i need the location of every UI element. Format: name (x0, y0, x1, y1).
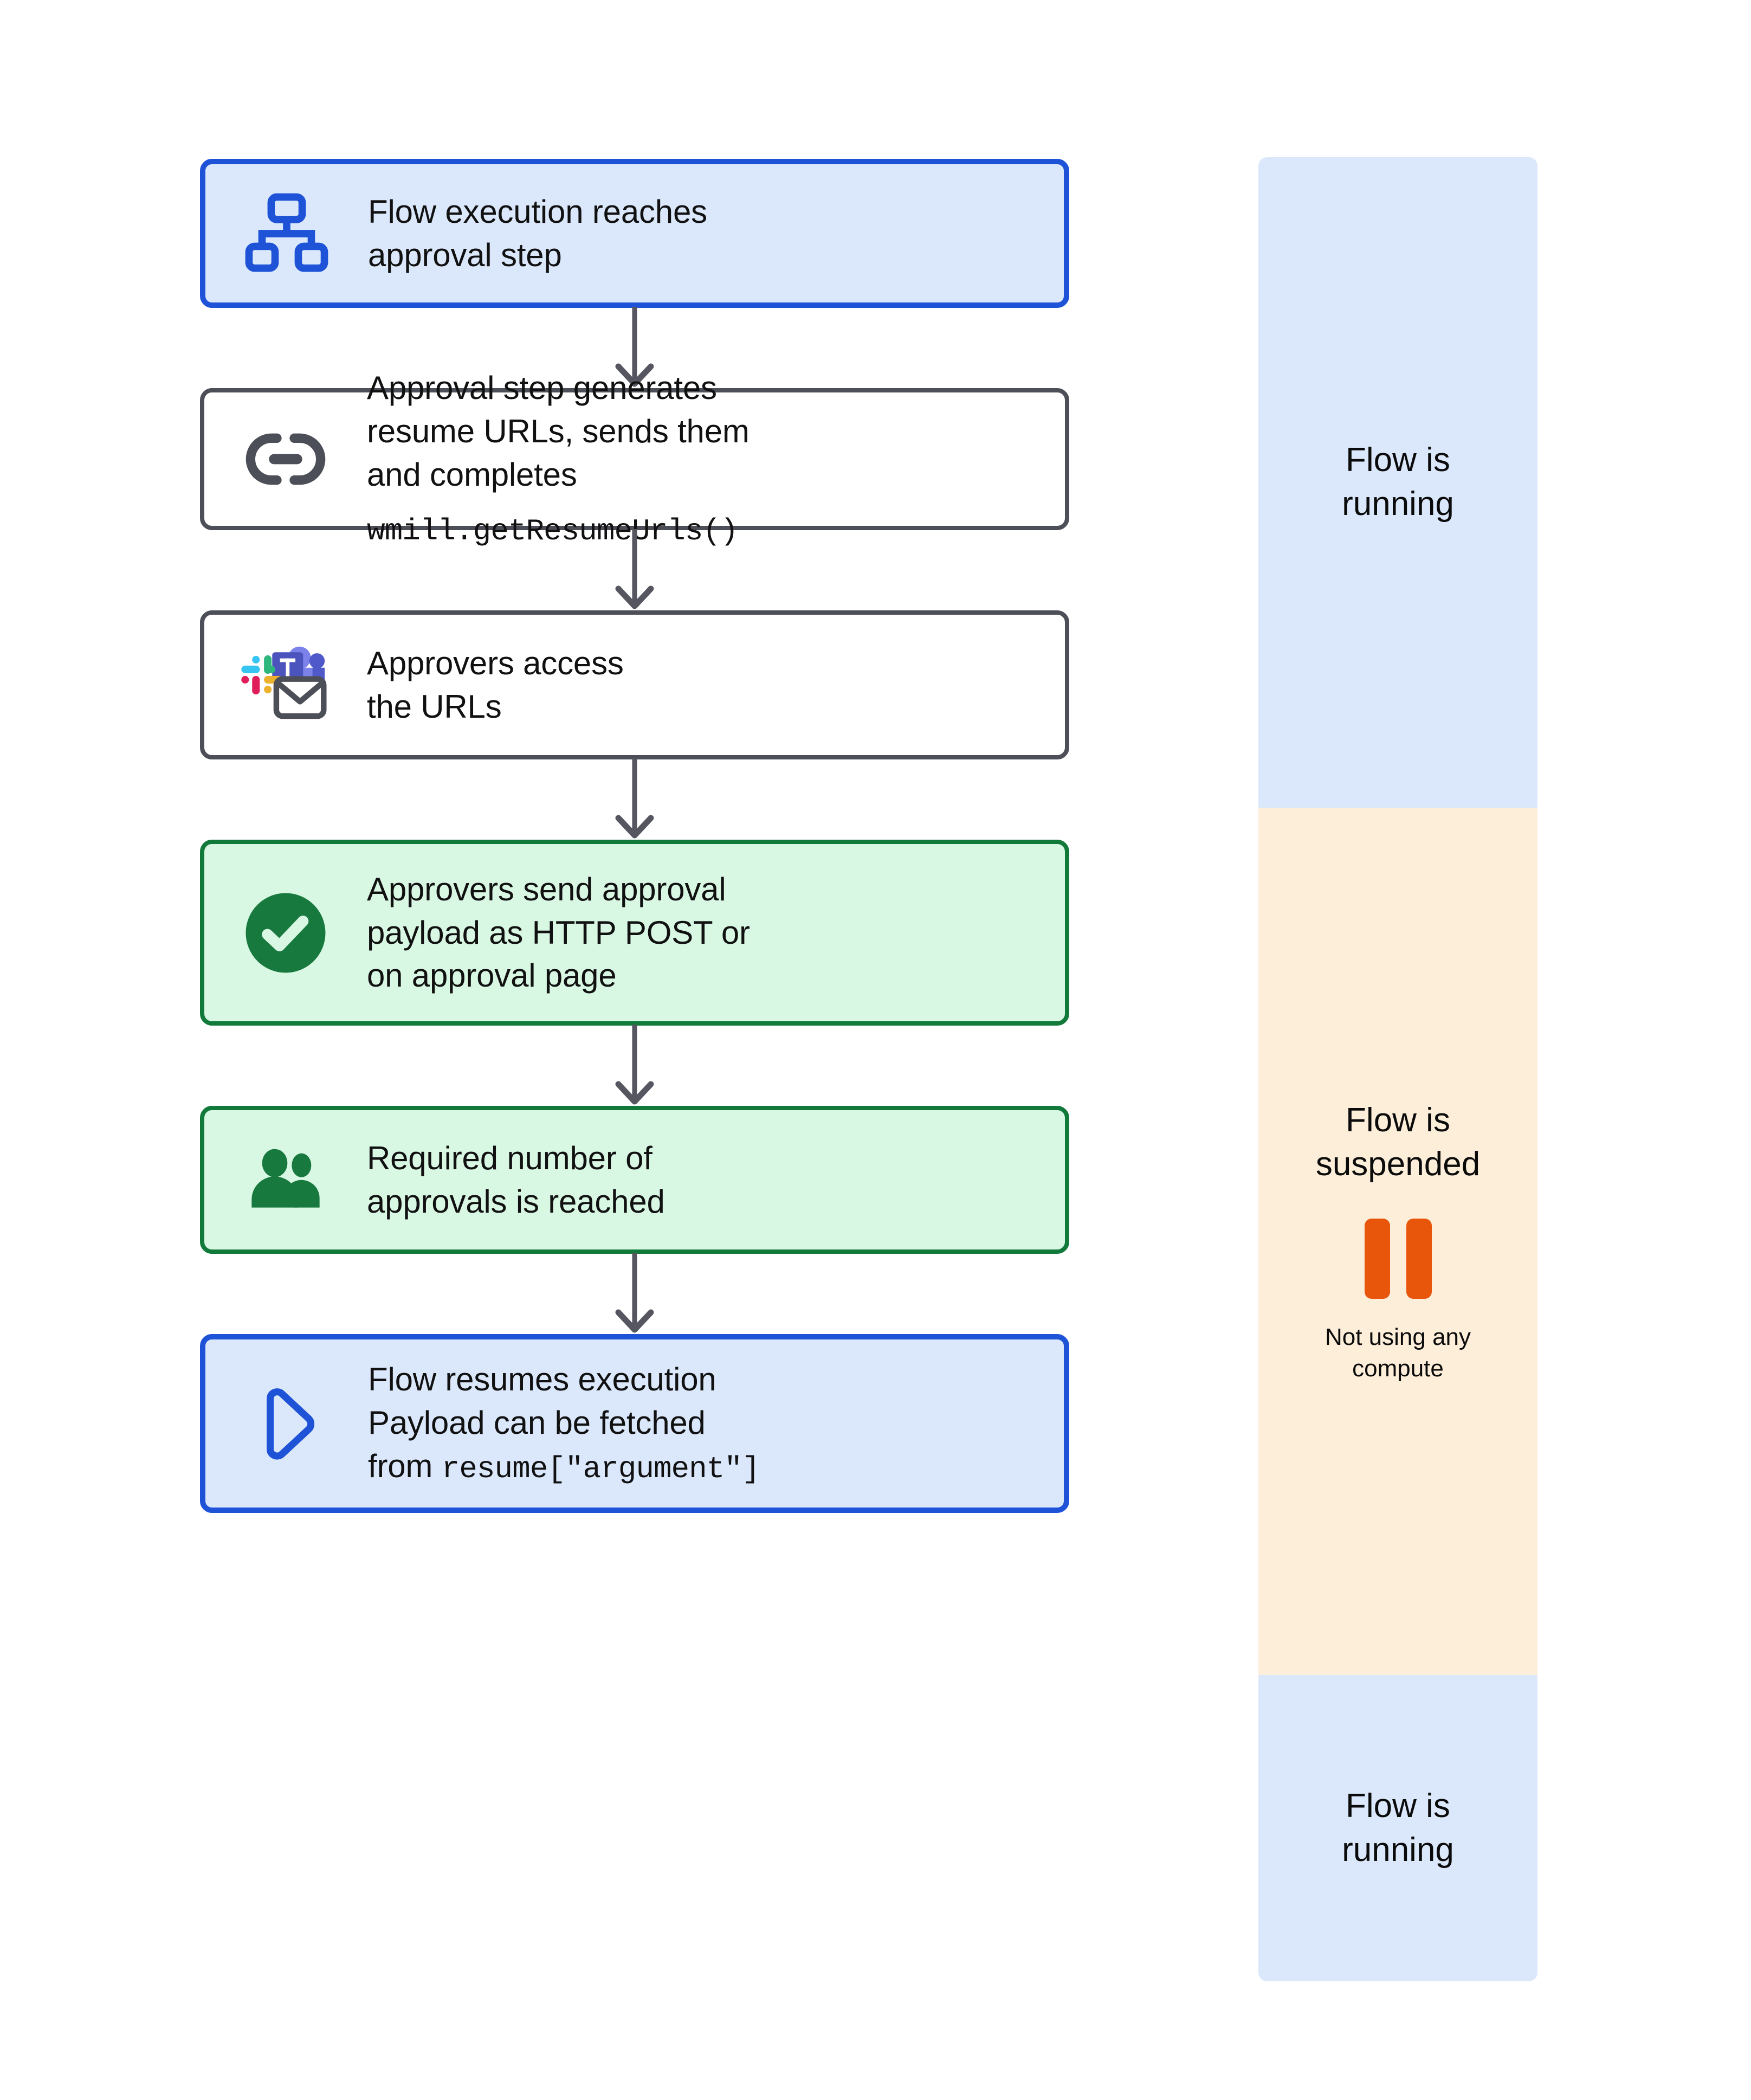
connector-arrow (200, 530, 1069, 610)
flow-status-sidebar: Flow is running Flow is suspended Not us… (1258, 157, 1537, 1981)
node-flow-resumes[interactable]: Flow resumes execution Payload can be fe… (200, 1334, 1069, 1513)
band-subtitle: Not using any compute (1325, 1322, 1471, 1383)
node-flow-reaches-approval[interactable]: Flow execution reaches approval step (200, 159, 1069, 308)
pause-bar-left (1365, 1219, 1390, 1299)
node-generates-resume-urls[interactable]: Approval step generates resume URLs, sen… (200, 388, 1069, 530)
band-title: Flow is running (1342, 1785, 1454, 1872)
node-approvals-reached[interactable]: Required number of approvals is reached (200, 1106, 1069, 1254)
node-label: Required number of approvals is reached (367, 1137, 1065, 1223)
link-icon (204, 416, 367, 503)
connector-arrow (200, 1026, 1069, 1106)
pause-bar-right (1406, 1219, 1432, 1299)
check-circle-icon (204, 887, 367, 978)
node-approvers-access-urls[interactable]: Approvers access the URLs (200, 610, 1069, 759)
hierarchy-icon (205, 190, 368, 277)
band-suspended: Flow is suspended Not using any compute (1258, 808, 1537, 1675)
node-label: Flow execution reaches approval step (368, 190, 1064, 277)
band-title: Flow is suspended (1316, 1099, 1480, 1186)
email-icon (276, 679, 324, 716)
connector-arrow (200, 1254, 1069, 1334)
node-label: Approval step generates resume URLs, sen… (367, 366, 1065, 552)
band-running-top: Flow is running (1258, 157, 1537, 808)
band-title: Flow is running (1342, 439, 1454, 526)
pause-icon (1365, 1219, 1432, 1299)
people-icon (204, 1137, 367, 1223)
connector-arrow (200, 759, 1069, 840)
flow-diagram-column: Flow execution reaches approval step App… (200, 159, 1069, 1513)
node-label: Flow resumes execution Payload can be fe… (368, 1358, 1064, 1489)
slack-teams-email-icon (204, 634, 367, 737)
node-code-prefix: from (368, 1448, 442, 1484)
node-code-snippet: resume["argument"] (442, 1452, 760, 1486)
node-label: Approvers access the URLs (367, 642, 1065, 729)
node-approvers-send-payload[interactable]: Approvers send approval payload as HTTP … (200, 840, 1069, 1026)
play-icon (205, 1376, 368, 1471)
band-running-bottom: Flow is running (1258, 1675, 1537, 1981)
node-label: Approvers send approval payload as HTTP … (367, 868, 1065, 997)
